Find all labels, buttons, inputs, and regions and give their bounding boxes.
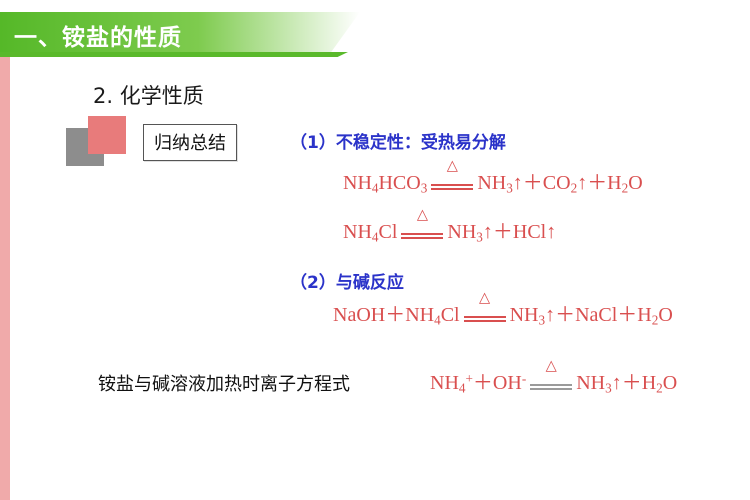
title-banner: 一、铵盐的性质 [0,12,380,52]
delta-symbol-2: △ [417,208,428,222]
summary-label-box: 归纳总结 [143,124,237,161]
delta-symbol-4: △ [546,359,557,373]
equation-3-left: NaOH＋NH4Cl [333,304,460,326]
reaction-arrow-3: △ [462,306,508,326]
point-1-heading: （1）不稳定性：受热易分解 [290,128,506,153]
equation-4-left: NH4+＋OH- [430,372,526,394]
delta-symbol-3: △ [479,291,490,305]
point-2-heading: （2）与碱反应 [290,268,404,293]
equation-4-right: NH3↑＋H2O [576,372,677,394]
equation-2: NH4Cl△NH3↑＋HCl↑ [343,222,556,244]
equation-3: NaOH＋NH4Cl△NH3↑＋NaCl＋H2O [333,305,673,327]
subheading: 2. 化学性质 [93,80,204,110]
ionic-equation-note: 铵盐与碱溶液加热时离子方程式 [98,370,350,396]
delta-symbol-1: △ [447,159,458,173]
equation-3-right: NH3↑＋NaCl＋H2O [510,304,673,326]
equation-4: NH4+＋OH-△NH3↑＋H2O [430,372,677,395]
left-accent-stripe [0,57,10,500]
equation-2-right: NH3↑＋HCl↑ [447,221,556,243]
title-underline [0,52,348,57]
reaction-arrow-4: △ [528,374,574,394]
equation-1-right: NH3↑＋CO2↑＋H2O [477,172,642,194]
equation-1: NH4HCO3△NH3↑＋CO2↑＋H2O [343,173,643,195]
equation-1-left: NH4HCO3 [343,172,427,194]
decorative-square-red [88,116,126,154]
slide: 一、铵盐的性质 2. 化学性质 归纳总结 （1）不稳定性：受热易分解 NH4HC… [0,0,750,500]
equation-2-left: NH4Cl [343,221,397,243]
page-title: 一、铵盐的性质 [14,18,182,52]
reaction-arrow-2: △ [399,223,445,243]
reaction-arrow-1: △ [429,174,475,194]
